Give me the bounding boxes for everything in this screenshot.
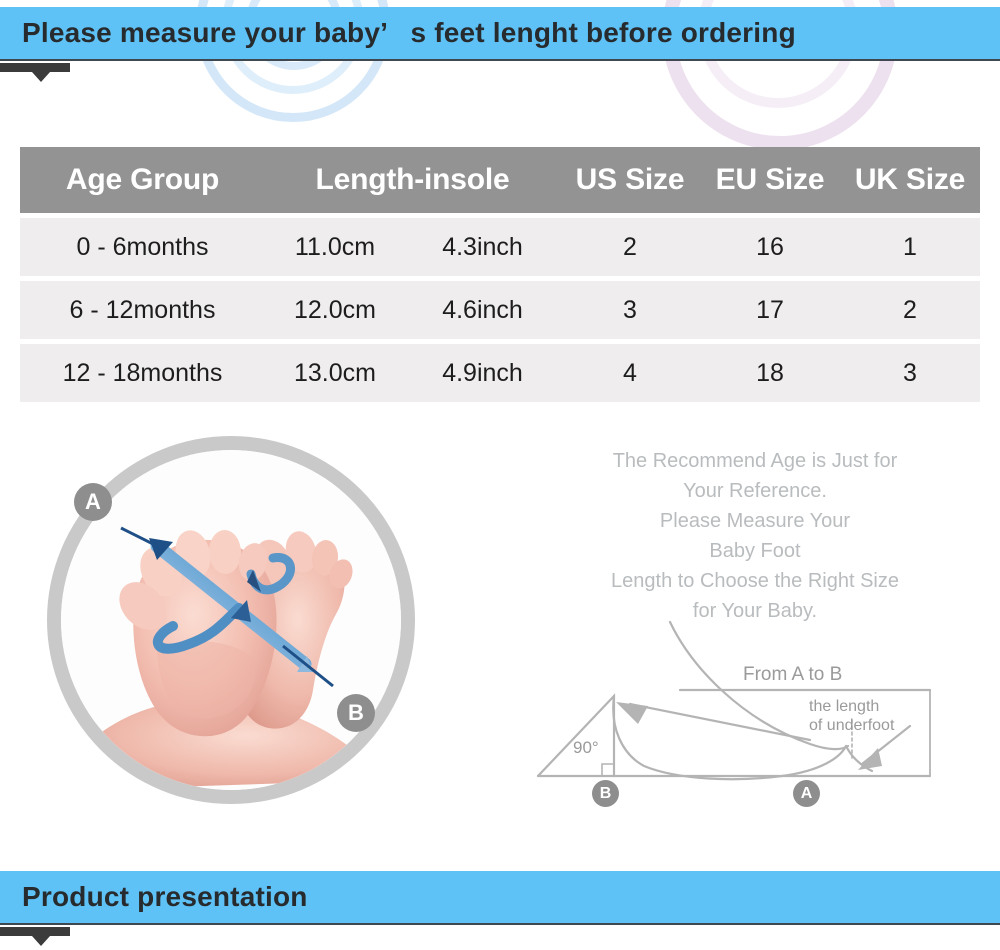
diagram-marker-a: A [793, 780, 820, 807]
diagram-label-underfoot: the length of underfoot [809, 698, 894, 735]
cell-length-cm: 12.0cm [265, 298, 405, 323]
cell-length-inch: 4.6inch [405, 298, 560, 323]
baby-feet-illustration-icon [61, 450, 401, 790]
cell-age-group: 0 - 6months [20, 235, 265, 260]
banner-pointer-tab [0, 927, 70, 936]
section-banner-product-presentation: Product presentation [0, 871, 1000, 925]
baby-foot-photo [61, 450, 401, 790]
photo-marker-b: B [337, 694, 375, 732]
banner-title-measure: Please measure your baby’ s feet lenght … [22, 19, 796, 47]
cell-age-group: 12 - 18months [20, 361, 265, 386]
cell-uk-size: 2 [840, 298, 980, 323]
diagram-marker-b: B [592, 780, 619, 807]
cell-eu-size: 18 [700, 361, 840, 386]
baby-foot-photo-circle: A B [47, 436, 415, 804]
foot-side-profile-icon [510, 608, 980, 823]
column-header-length-insole: Length-insole [265, 165, 560, 195]
diagram-label-right-angle: 90° [573, 738, 599, 758]
cell-length-inch: 4.9inch [405, 361, 560, 386]
cell-length-cm: 11.0cm [265, 235, 405, 260]
foot-measure-diagram: From A to B the length of underfoot 90° … [510, 608, 980, 823]
cell-us-size: 4 [560, 361, 700, 386]
cell-length-inch: 4.3inch [405, 235, 560, 260]
column-header-us-size: US Size [560, 165, 700, 195]
column-header-age-group: Age Group [20, 165, 265, 195]
cell-uk-size: 1 [840, 235, 980, 260]
section-banner-measure: Please measure your baby’ s feet lenght … [0, 7, 1000, 61]
banner-pointer-tab [0, 63, 70, 72]
table-header-row: Age Group Length-insole US Size EU Size … [20, 147, 980, 213]
cell-uk-size: 3 [840, 361, 980, 386]
table-row: 0 - 6months 11.0cm 4.3inch 2 16 1 [20, 218, 980, 276]
banner-title-product-presentation: Product presentation [22, 883, 308, 911]
column-header-eu-size: EU Size [700, 165, 840, 195]
column-header-uk-size: UK Size [840, 165, 980, 195]
cell-us-size: 3 [560, 298, 700, 323]
cell-age-group: 6 - 12months [20, 298, 265, 323]
cell-eu-size: 17 [700, 298, 840, 323]
diagram-label-from-a-to-b: From A to B [743, 664, 842, 686]
photo-marker-a: A [74, 483, 112, 521]
table-row: 6 - 12months 12.0cm 4.6inch 3 17 2 [20, 281, 980, 339]
table-row: 12 - 18months 13.0cm 4.9inch 4 18 3 [20, 344, 980, 402]
measurement-note-text: The Recommend Age is Just for Your Refer… [540, 446, 970, 626]
cell-us-size: 2 [560, 235, 700, 260]
cell-eu-size: 16 [700, 235, 840, 260]
size-chart-table: Age Group Length-insole US Size EU Size … [20, 147, 980, 402]
cell-length-cm: 13.0cm [265, 361, 405, 386]
